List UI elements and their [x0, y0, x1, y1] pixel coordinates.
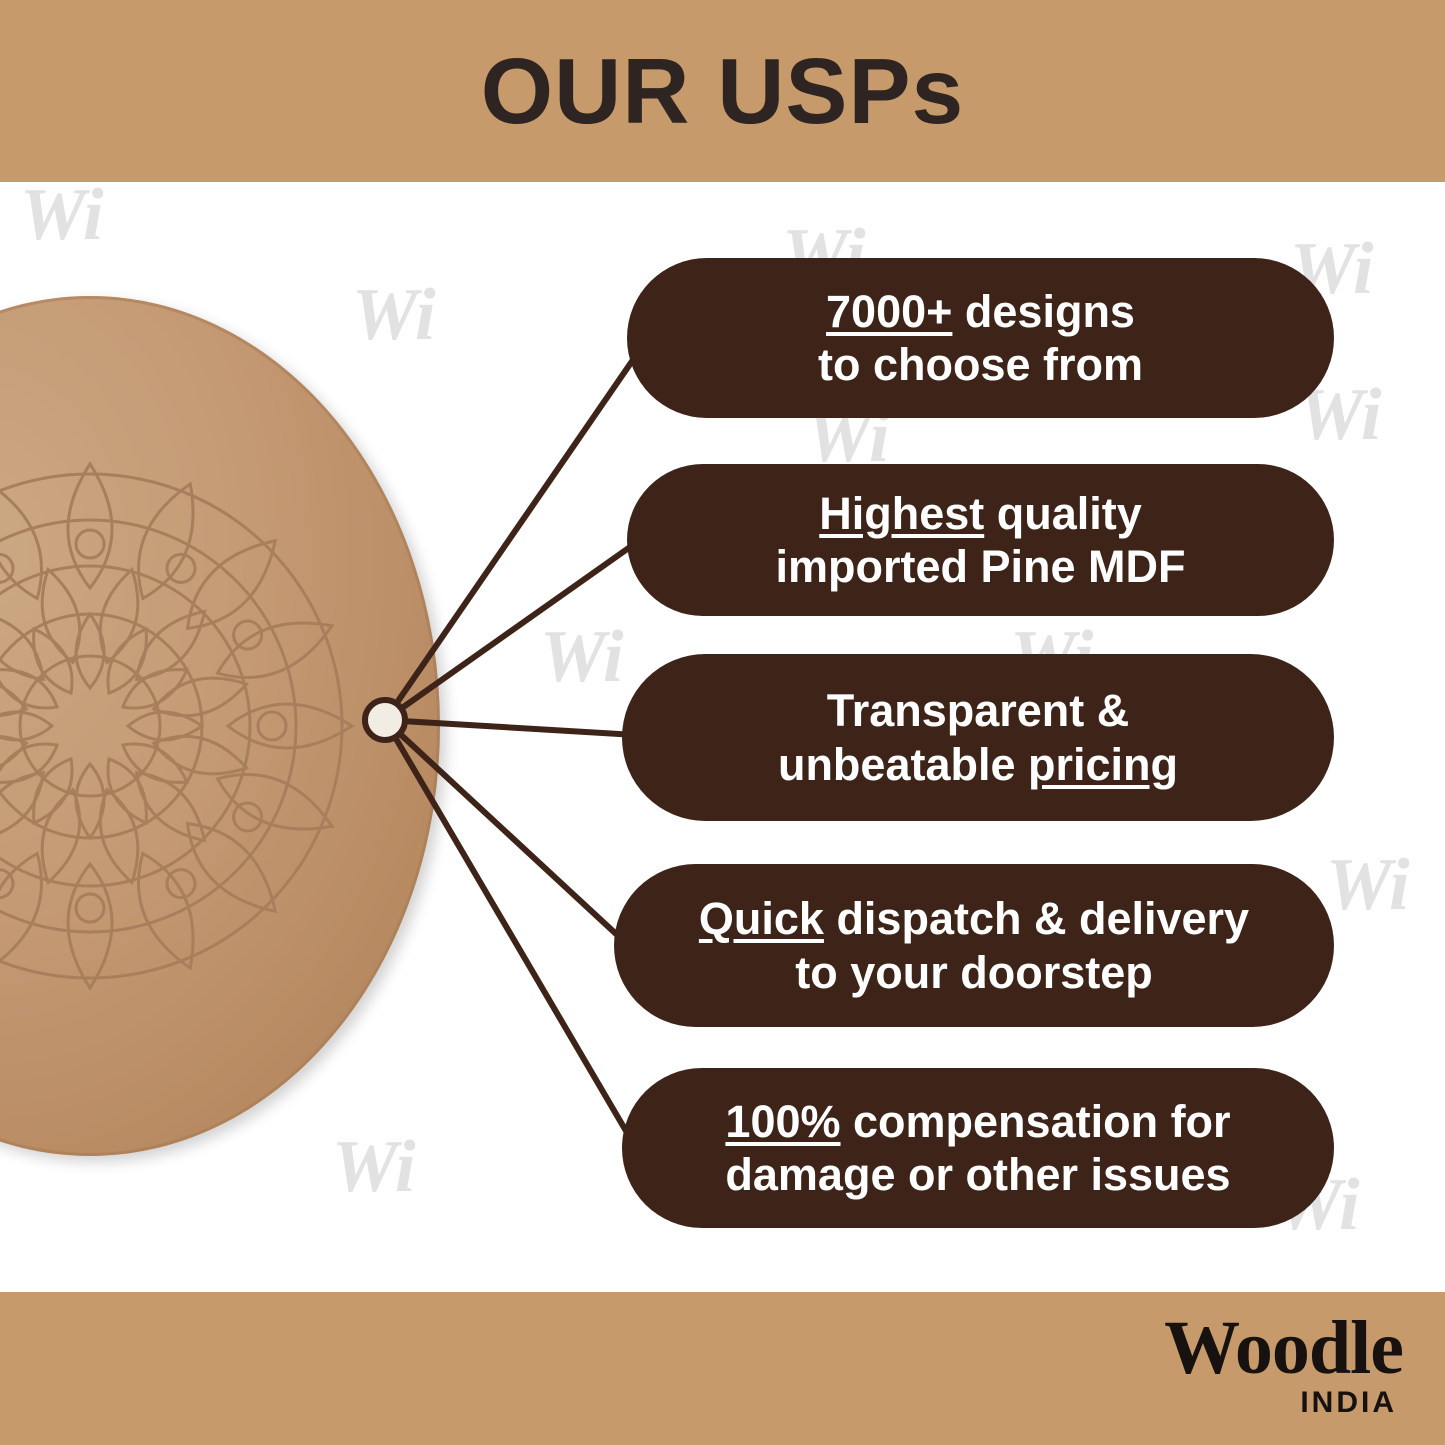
usp-designs-highlight: 7000+ [826, 286, 952, 337]
usp-quality-line2: imported Pine MDF [775, 540, 1185, 593]
watermark-logo: Wi [1326, 848, 1410, 922]
usp-dispatch-line1-post: dispatch & delivery [824, 893, 1249, 944]
watermark-logo: Wi [20, 178, 104, 252]
hub-node [362, 697, 408, 743]
usp-quality-highlight: Highest [819, 488, 984, 539]
watermark-logo: Wi [540, 620, 624, 694]
usp-card-designs: 7000+ designs to choose from [627, 258, 1334, 418]
usp-pricing-highlight: pricing [1028, 739, 1178, 790]
infographic-canvas: Wi Wi Wi Wi Wi Wi Wi Wi Wi Wi Wi [0, 0, 1445, 1445]
usp-designs-line2: to choose from [818, 338, 1143, 391]
usp-card-dispatch: Quick dispatch & delivery to your doorst… [614, 864, 1334, 1027]
usp-compensation-line1: 100% compensation for [725, 1095, 1230, 1148]
usp-compensation-line1-post: compensation for [841, 1096, 1231, 1147]
usp-card-pricing: Transparent & unbeatable pricing [622, 654, 1334, 821]
brand-subtitle: INDIA [983, 1387, 1397, 1419]
usp-designs-line1-post: designs [952, 286, 1135, 337]
usp-dispatch-highlight: Quick [699, 893, 824, 944]
usp-designs-line1: 7000+ designs [818, 285, 1143, 338]
usp-card-compensation: 100% compensation for damage or other is… [622, 1068, 1334, 1228]
usp-dispatch-line1: Quick dispatch & delivery [699, 892, 1249, 945]
page-title: OUR USPs [0, 0, 1445, 182]
usp-compensation-highlight: 100% [725, 1096, 840, 1147]
usp-pricing-line2-pre: unbeatable [778, 739, 1028, 790]
usp-dispatch-line2: to your doorstep [699, 946, 1249, 999]
usp-quality-line1-post: quality [984, 488, 1142, 539]
usp-pricing-line1: Transparent & [778, 684, 1178, 737]
usp-pricing-line2: unbeatable pricing [778, 738, 1178, 791]
brand-logo: Woodle INDIA [983, 1305, 1403, 1433]
brand-name: Woodle [983, 1305, 1403, 1391]
usp-compensation-line2: damage or other issues [725, 1148, 1230, 1201]
usp-quality-line1: Highest quality [775, 487, 1185, 540]
usp-card-quality: Highest quality imported Pine MDF [627, 464, 1334, 616]
